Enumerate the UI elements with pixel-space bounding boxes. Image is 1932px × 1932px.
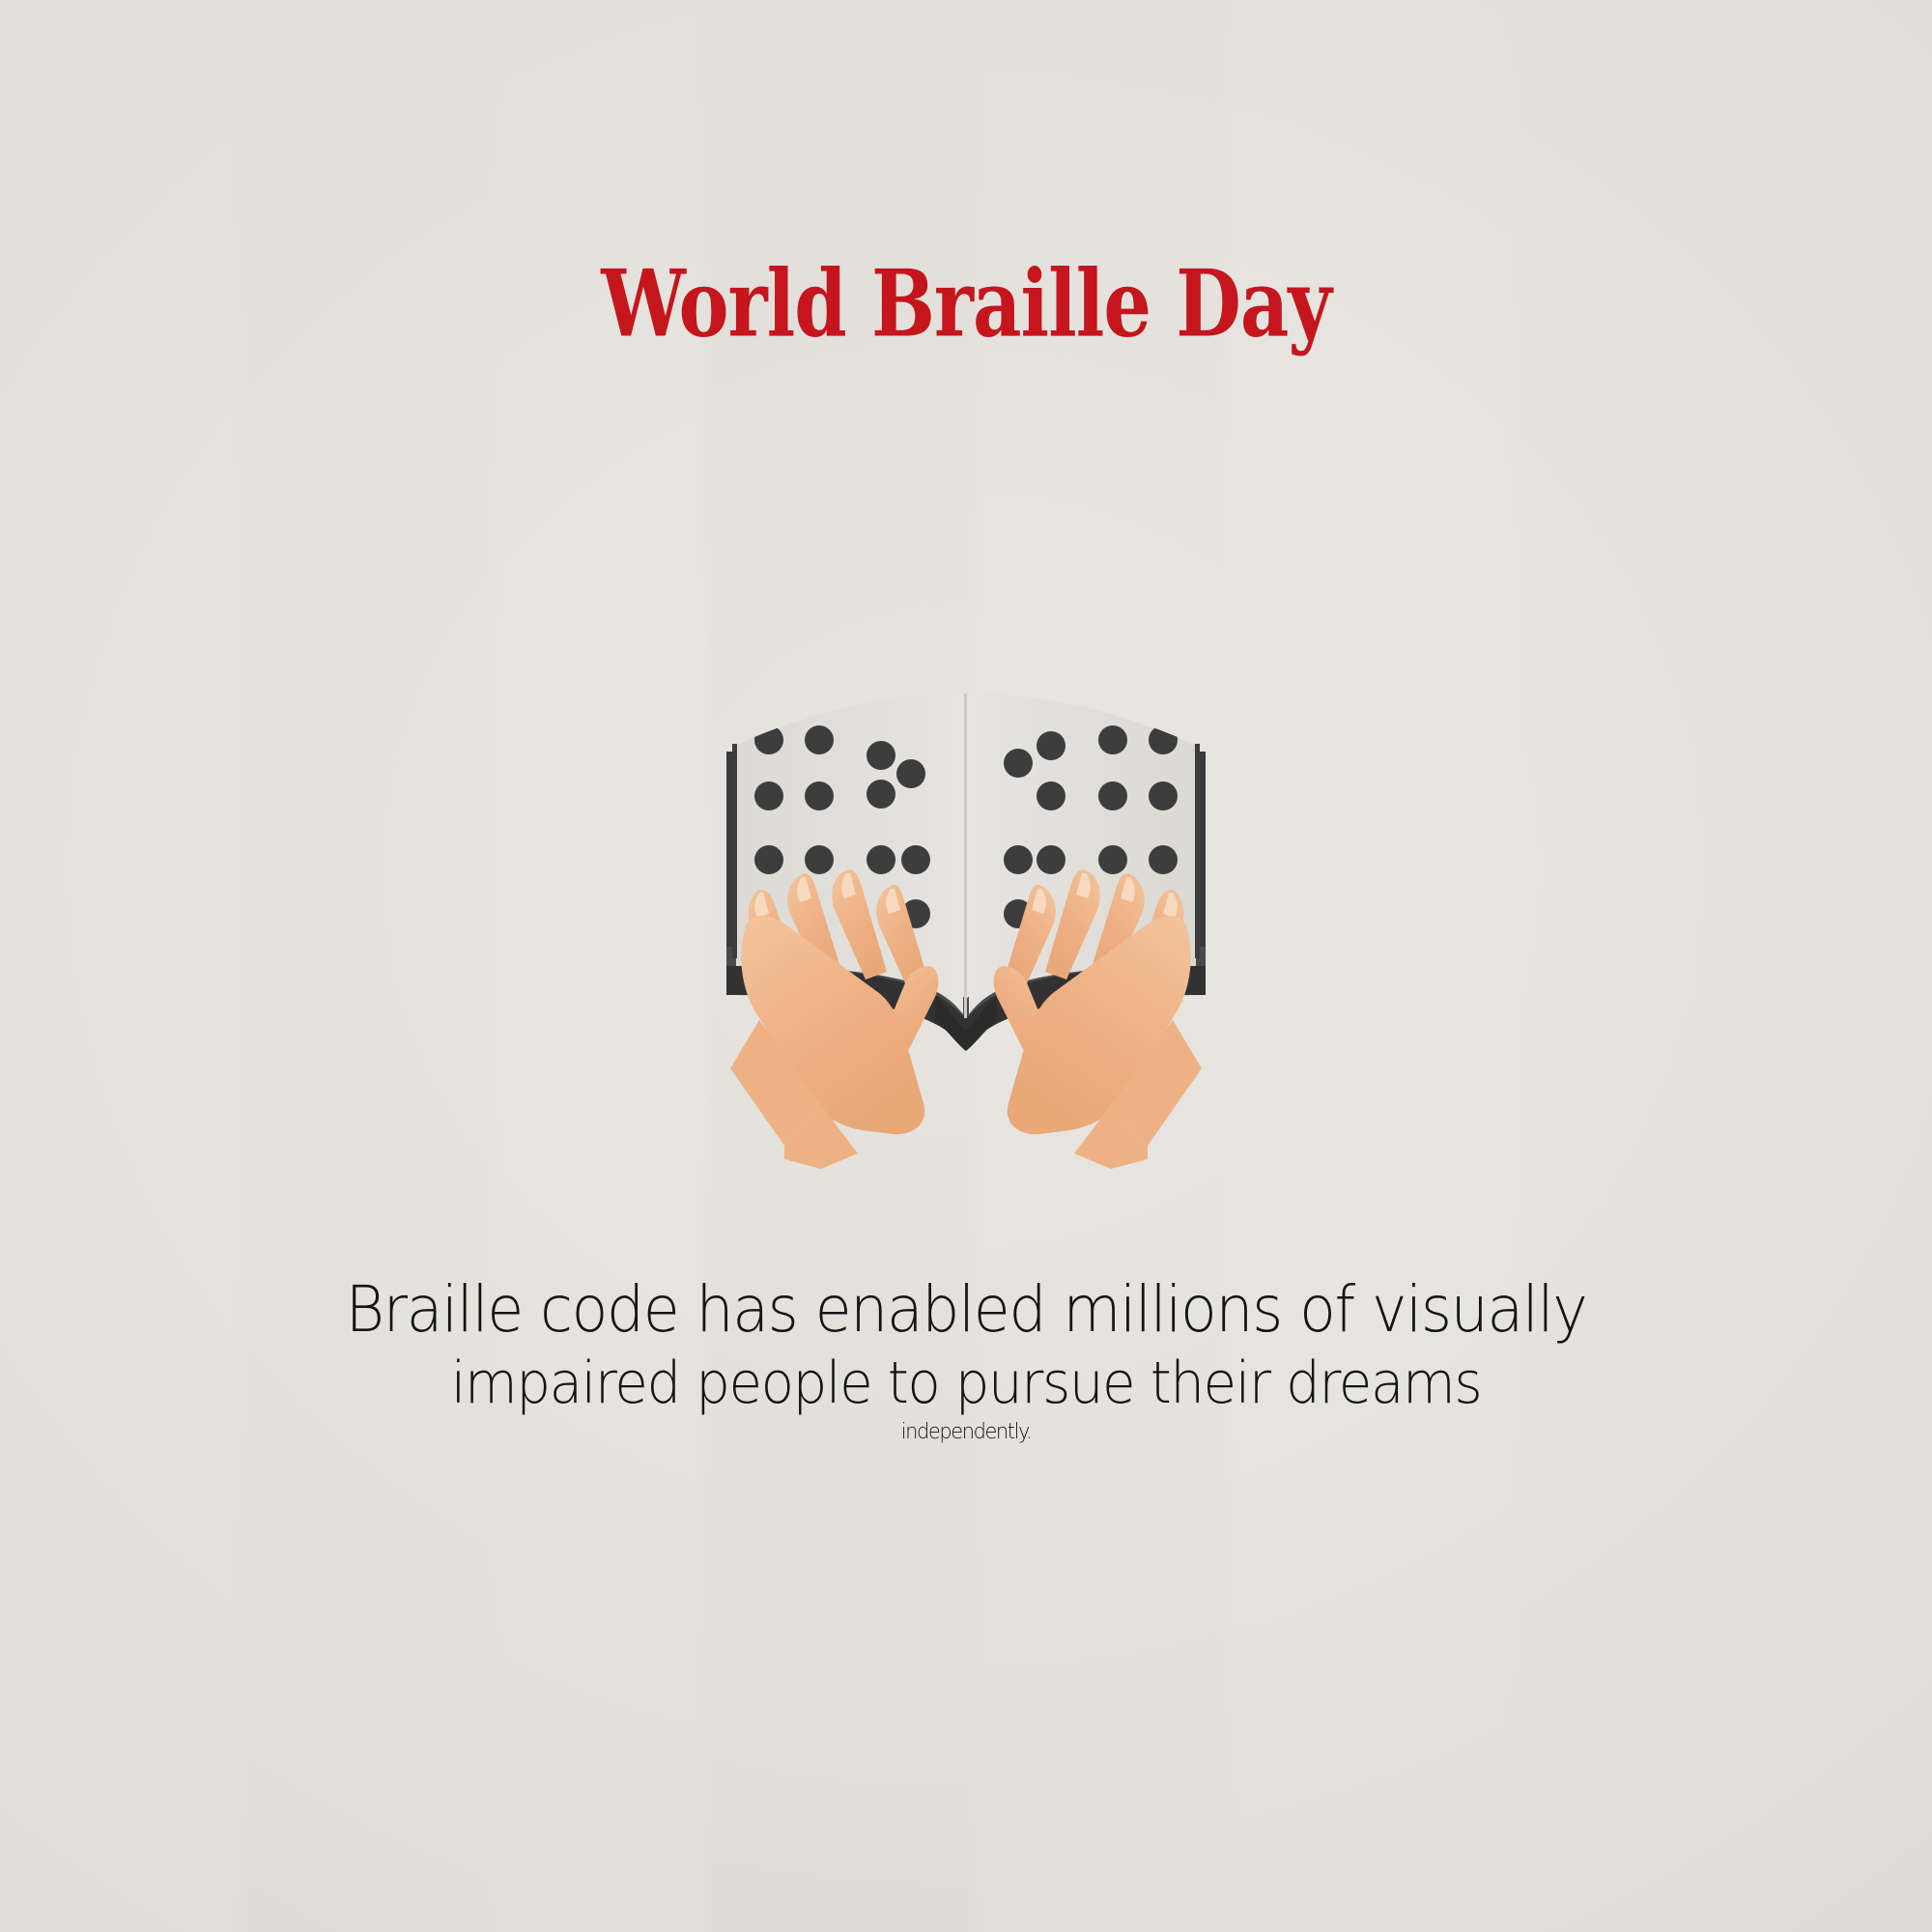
caption-block: Braille code has enabled millions of vis… — [213, 1271, 1719, 1445]
braille-dot — [754, 725, 783, 754]
caption-line: impaired people to pursue their dreams — [258, 1349, 1674, 1419]
braille-dot — [1098, 781, 1127, 810]
braille-dot — [805, 845, 834, 874]
braille-dot — [805, 725, 834, 754]
braille-dot — [1037, 731, 1065, 760]
braille-book-illustration — [676, 676, 1256, 1169]
braille-dot — [754, 781, 783, 810]
caption-line: independently. — [258, 1419, 1674, 1445]
page-title: World Braille Day — [0, 259, 1932, 351]
braille-book-svg — [676, 676, 1256, 1169]
braille-dot — [1037, 781, 1065, 810]
braille-dot — [901, 845, 930, 874]
title-block: World Braille Day — [0, 259, 1932, 334]
braille-dot — [805, 781, 834, 810]
braille-dot — [1004, 749, 1033, 778]
braille-dot — [867, 780, 895, 809]
poster-canvas: World Braille Day — [0, 0, 1932, 1932]
caption-line: Braille code has enabled millions of vis… — [258, 1271, 1674, 1349]
braille-dot — [1098, 845, 1127, 874]
braille-dot — [1149, 781, 1178, 810]
braille-dot — [754, 845, 783, 874]
braille-dot — [1004, 845, 1033, 874]
braille-dot — [1149, 845, 1178, 874]
braille-dot — [867, 741, 895, 770]
braille-dot — [1149, 725, 1178, 754]
braille-dot — [1098, 725, 1127, 754]
braille-dot — [896, 759, 925, 788]
braille-dot — [867, 845, 895, 874]
braille-dot — [1037, 845, 1065, 874]
